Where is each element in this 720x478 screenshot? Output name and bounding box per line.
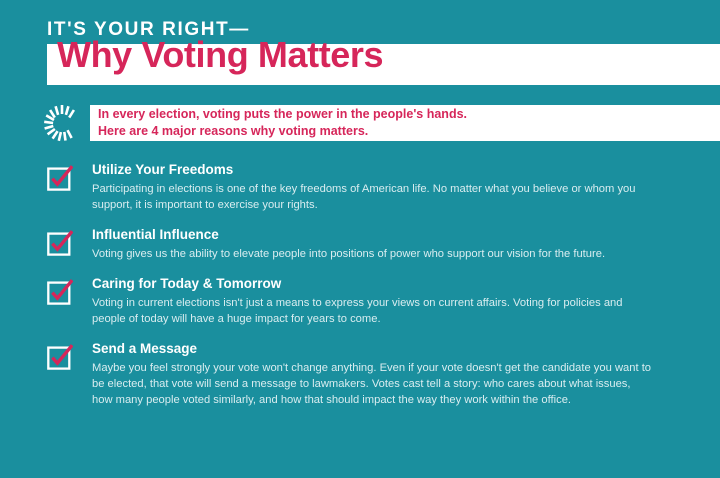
checkbox-checked-icon	[47, 344, 73, 370]
starburst-icon	[42, 103, 82, 143]
list-item-description: Voting gives us the ability to elevate p…	[92, 247, 605, 263]
list-item-body: Utilize Your Freedoms Participating in e…	[73, 162, 652, 214]
checkbox-checked-icon	[47, 279, 73, 305]
list-item-title: Utilize Your Freedoms	[92, 162, 652, 178]
list-item-title: Caring for Today & Tomorrow	[92, 276, 652, 292]
reasons-list: Utilize Your Freedoms Participating in e…	[0, 141, 720, 409]
list-item: Send a Message Maybe you feel strongly y…	[0, 341, 720, 409]
list-item: Caring for Today & Tomorrow Voting in cu…	[0, 276, 720, 328]
list-item-description: Voting in current elections isn't just a…	[92, 296, 652, 328]
list-item-body: Caring for Today & Tomorrow Voting in cu…	[73, 276, 652, 328]
intro-section: In every election, voting puts the power…	[0, 105, 720, 141]
list-item: Influential Influence Voting gives us th…	[0, 227, 720, 263]
title-band: Why Voting Matters	[47, 44, 720, 85]
checkbox-checked-icon	[47, 165, 73, 191]
list-item-title: Send a Message	[92, 341, 652, 357]
list-item-body: Send a Message Maybe you feel strongly y…	[73, 341, 652, 409]
list-item: Utilize Your Freedoms Participating in e…	[0, 162, 720, 214]
page-title: Why Voting Matters	[57, 37, 383, 73]
list-item-description: Maybe you feel strongly your vote won't …	[92, 361, 652, 409]
checkbox-checked-icon	[47, 230, 73, 256]
list-item-body: Influential Influence Voting gives us th…	[73, 227, 605, 263]
poster-header: IT'S YOUR RIGHT— Why Voting Matters	[0, 0, 720, 85]
intro-band: In every election, voting puts the power…	[90, 105, 720, 141]
infographic-poster: IT'S YOUR RIGHT— Why Voting Matters	[0, 0, 720, 478]
list-item-description: Participating in elections is one of the…	[92, 182, 652, 214]
intro-line-1: In every election, voting puts the power…	[98, 107, 467, 121]
list-item-title: Influential Influence	[92, 227, 605, 243]
intro-text: In every election, voting puts the power…	[90, 106, 467, 139]
intro-line-2: Here are 4 major reasons why voting matt…	[98, 124, 368, 138]
